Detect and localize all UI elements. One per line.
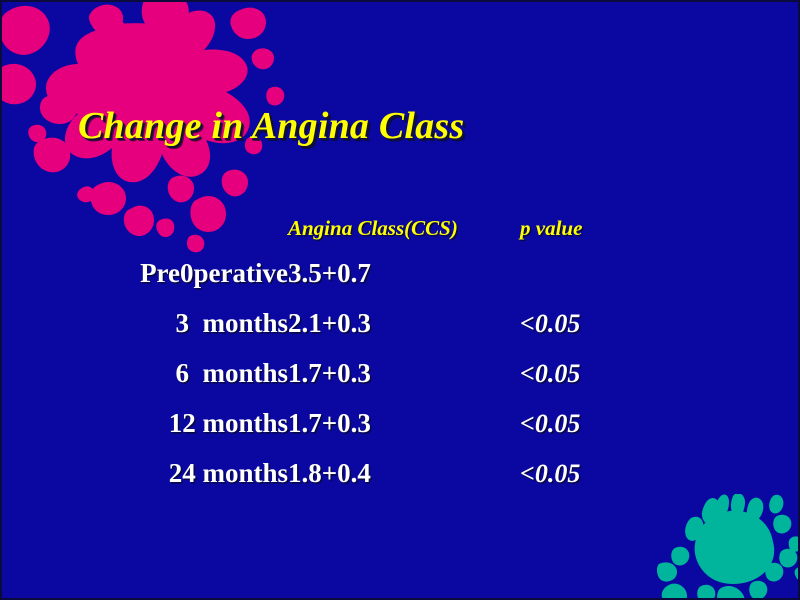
slide-title: Change in Angina Class bbox=[78, 104, 464, 148]
table-body: Pre0perative 3.5+0.7 3 months 2.1+0.3 <0… bbox=[60, 258, 750, 508]
cell-timepoint: 3 months bbox=[60, 308, 288, 358]
cell-p-value bbox=[520, 258, 750, 308]
table-row: Pre0perative 3.5+0.7 bbox=[60, 258, 750, 308]
cell-p-value: <0.05 bbox=[520, 308, 750, 358]
cell-p-value: <0.05 bbox=[520, 458, 750, 508]
cell-angina-class: 1.7+0.3 bbox=[288, 408, 520, 458]
cell-angina-class: 3.5+0.7 bbox=[288, 258, 520, 308]
teal-paint-splat-icon bbox=[657, 494, 800, 600]
column-header-timepoint bbox=[60, 216, 288, 258]
presentation-slide: Change in Angina Class Angina Class(CCS)… bbox=[0, 0, 800, 600]
cell-timepoint: Pre0perative bbox=[60, 258, 288, 308]
cell-p-value: <0.05 bbox=[520, 408, 750, 458]
table-row: 3 months 2.1+0.3 <0.05 bbox=[60, 308, 750, 358]
cell-timepoint: 6 months bbox=[60, 358, 288, 408]
column-header-p-value: p value bbox=[520, 216, 750, 258]
table-header-row: Angina Class(CCS) p value bbox=[60, 216, 750, 258]
column-header-angina-class: Angina Class(CCS) bbox=[288, 216, 520, 258]
table-row: 24 months 1.8+0.4 <0.05 bbox=[60, 458, 750, 508]
angina-class-table: Angina Class(CCS) p value Pre0perative 3… bbox=[60, 216, 750, 508]
cell-angina-class: 1.8+0.4 bbox=[288, 458, 520, 508]
cell-p-value: <0.05 bbox=[520, 358, 750, 408]
table-row: 12 months 1.7+0.3 <0.05 bbox=[60, 408, 750, 458]
cell-timepoint: 12 months bbox=[60, 408, 288, 458]
cell-timepoint: 24 months bbox=[60, 458, 288, 508]
table-header: Angina Class(CCS) p value bbox=[60, 216, 750, 258]
table-row: 6 months 1.7+0.3 <0.05 bbox=[60, 358, 750, 408]
cell-angina-class: 1.7+0.3 bbox=[288, 358, 520, 408]
cell-angina-class: 2.1+0.3 bbox=[288, 308, 520, 358]
